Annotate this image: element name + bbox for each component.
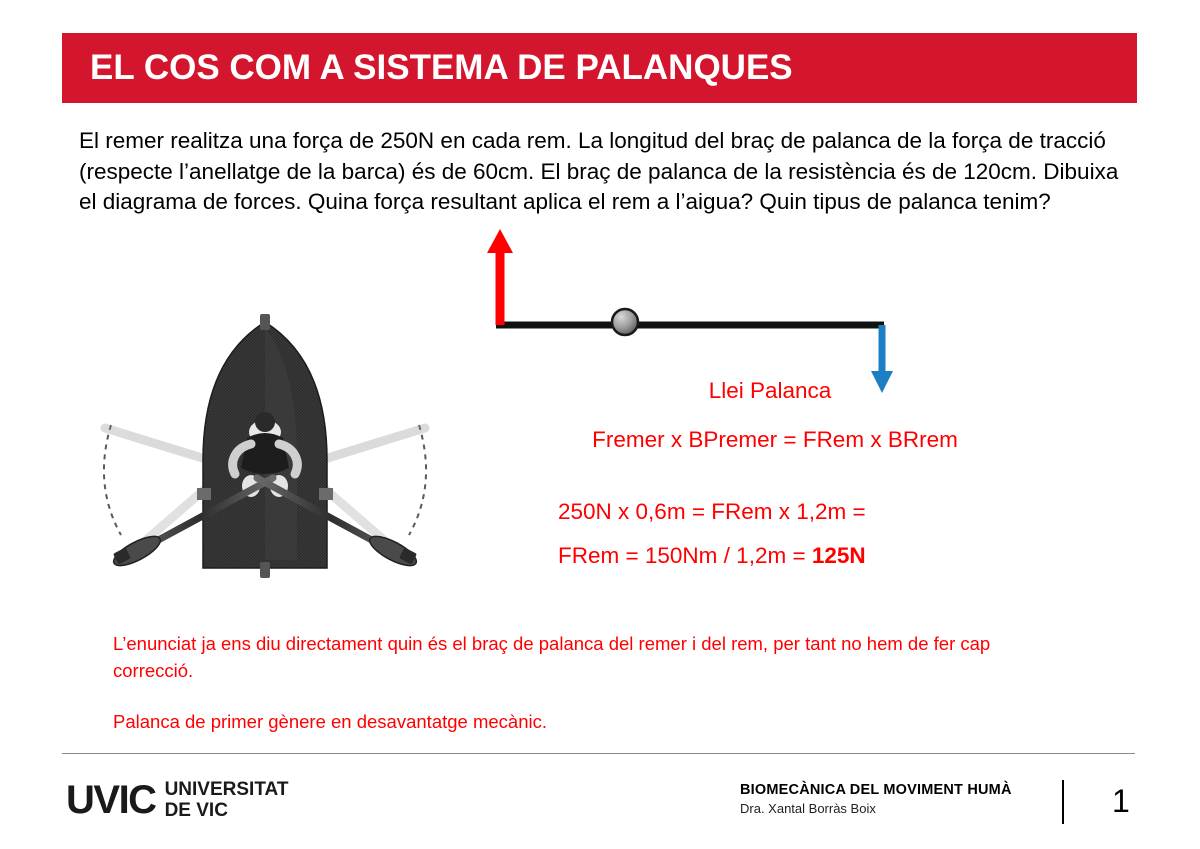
uvic-logo: UVIC UNIVERSITAT DE VIC [66,780,288,820]
uvic-logo-line-2: DE VIC [165,801,289,820]
first-class-lever-diagram [460,215,930,405]
footer-course-title: BIOMECÀNICA DEL MOVIMENT HUMÀ [740,782,1012,798]
uvic-logo-mark: UVIC [66,780,156,820]
lever-law-equation: Fremer x BPremer = FRem x BRrem [540,427,1010,453]
explanation-note: L’enunciat ja ens diu directament quin é… [113,630,1038,684]
rowing-boat-illustration [75,310,455,600]
footer-vertical-divider [1062,780,1064,824]
page-number: 1 [1112,782,1130,820]
footer-author-name: Dra. Xantal Borràs Boix [740,801,876,816]
lever-law-calculations: Llei Palanca Fremer x BPremer = FRem x B… [540,378,1010,569]
uvic-logo-line-1: UNIVERSITAT [165,780,289,799]
footer-divider-rule [62,753,1135,754]
calculation-line-2: FRem = 150Nm / 1,2m = 125N [540,543,1010,569]
calculation-result: 125N [812,543,866,568]
calculation-line-1: 250N x 0,6m = FRem x 1,2m = [540,499,1010,525]
uvic-logo-words: UNIVERSITAT DE VIC [165,780,289,820]
fulcrum-pivot [612,309,638,335]
problem-statement: El remer realitza una força de 250N en c… [79,126,1124,218]
lever-law-title: Llei Palanca [530,378,1010,404]
conclusion-note: Palanca de primer gènere en desavantatge… [113,708,913,735]
effort-force-arrow-up [487,229,513,325]
calculation-line-2-prefix: FRem = 150Nm / 1,2m = [558,543,812,568]
page-title: EL COS COM A SISTEMA DE PALANQUES [90,45,1090,91]
